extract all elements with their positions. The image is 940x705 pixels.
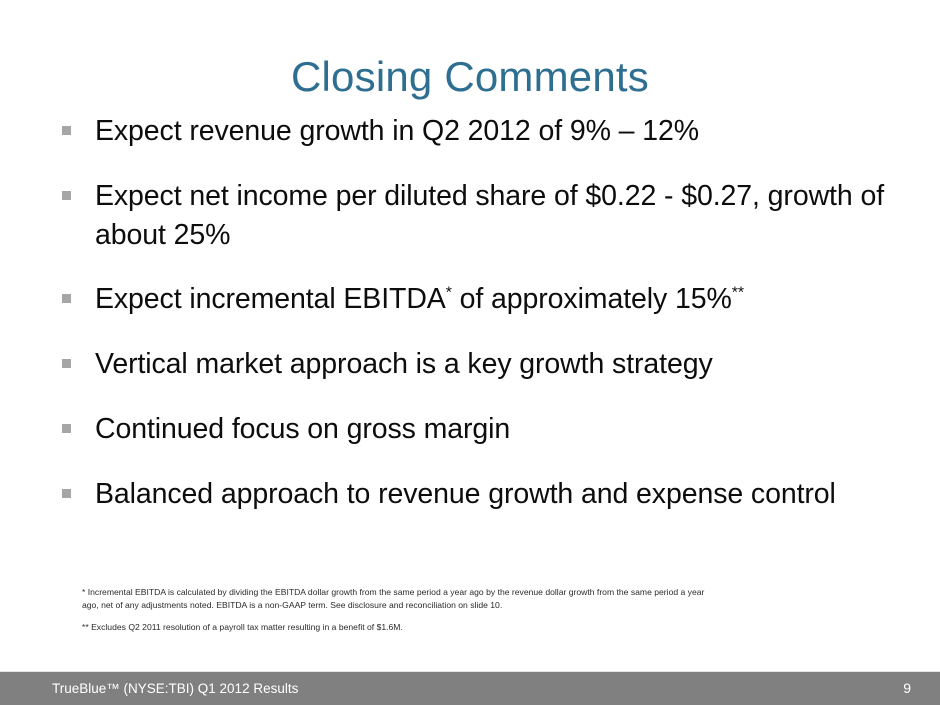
bullet-square-icon — [62, 489, 71, 498]
bullet-square-icon — [62, 359, 71, 368]
footnote-marker-double: ** — [732, 285, 744, 302]
page-title: Closing Comments — [0, 54, 940, 100]
bullet-text-pre: Expect incremental EBITDA — [95, 283, 446, 315]
bullet-text-pre: Expect revenue growth in Q2 2012 of 9% –… — [95, 115, 699, 147]
bullet-text: Vertical market approach is a key growth… — [95, 345, 898, 384]
bullet-square-icon — [62, 294, 71, 303]
bullet-text: Continued focus on gross margin — [95, 410, 898, 449]
bullet-square-icon — [62, 191, 71, 200]
bullet-text-pre: Balanced approach to revenue growth and … — [95, 478, 836, 510]
bullet-text: Expect net income per diluted share of $… — [95, 177, 898, 255]
slide-page-number: 9 — [903, 672, 911, 705]
footer-title: TrueBlue™ (NYSE:TBI) Q1 2012 Results — [52, 672, 298, 705]
footer-bar: TrueBlue™ (NYSE:TBI) Q1 2012 Results 9 — [0, 672, 940, 705]
list-item-balanced-approach: Balanced approach to revenue growth and … — [58, 475, 898, 514]
bullet-text: Balanced approach to revenue growth and … — [95, 475, 898, 514]
list-item-gross-margin: Continued focus on gross margin — [58, 410, 898, 449]
bullet-list: Expect revenue growth in Q2 2012 of 9% –… — [58, 112, 898, 513]
bullet-square-icon — [62, 424, 71, 433]
footnote-ebitda-definition: * Incremental EBITDA is calculated by di… — [82, 586, 722, 611]
bullet-text-pre: Vertical market approach is a key growth… — [95, 348, 713, 380]
bullet-square-icon — [62, 126, 71, 135]
footnote-payroll-tax-exclusion: ** Excludes Q2 2011 resolution of a payr… — [82, 621, 722, 634]
list-item-vertical-market: Vertical market approach is a key growth… — [58, 345, 898, 384]
list-item-net-income-per-share: Expect net income per diluted share of $… — [58, 177, 898, 255]
bullet-text: Expect revenue growth in Q2 2012 of 9% –… — [95, 112, 898, 151]
footnotes: * Incremental EBITDA is calculated by di… — [82, 586, 722, 634]
bullet-text-pre: Expect net income per diluted share of $… — [95, 180, 884, 251]
bullet-text-pre: Continued focus on gross margin — [95, 413, 510, 445]
list-item-incremental-ebitda: Expect incremental EBITDA* of approximat… — [58, 280, 898, 319]
bullet-text-mid: of approximately 15% — [452, 283, 732, 315]
slide: Closing Comments Expect revenue growth i… — [0, 0, 940, 705]
list-item-revenue-growth: Expect revenue growth in Q2 2012 of 9% –… — [58, 112, 898, 151]
bullet-text: Expect incremental EBITDA* of approximat… — [95, 280, 898, 319]
